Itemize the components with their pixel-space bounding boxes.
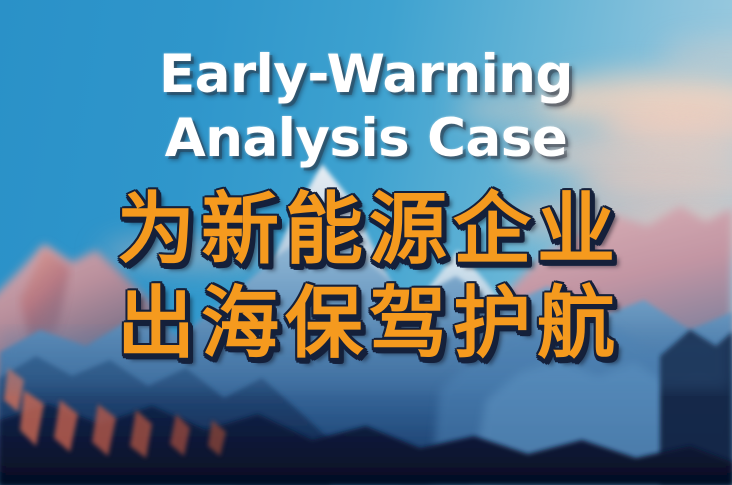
chinese-headline-line-1: 为新能源企业	[0, 188, 732, 272]
text-overlay: Early-Warning Analysis Case 为新能源企业 出海保驾护…	[0, 0, 732, 485]
english-title-line-1: Early-Warning	[0, 42, 732, 108]
chinese-headline-line-2: 出海保驾护航	[0, 282, 732, 366]
poster-image: Early-Warning Analysis Case 为新能源企业 出海保驾护…	[0, 0, 732, 485]
english-title-line-2: Analysis Case	[0, 106, 732, 172]
